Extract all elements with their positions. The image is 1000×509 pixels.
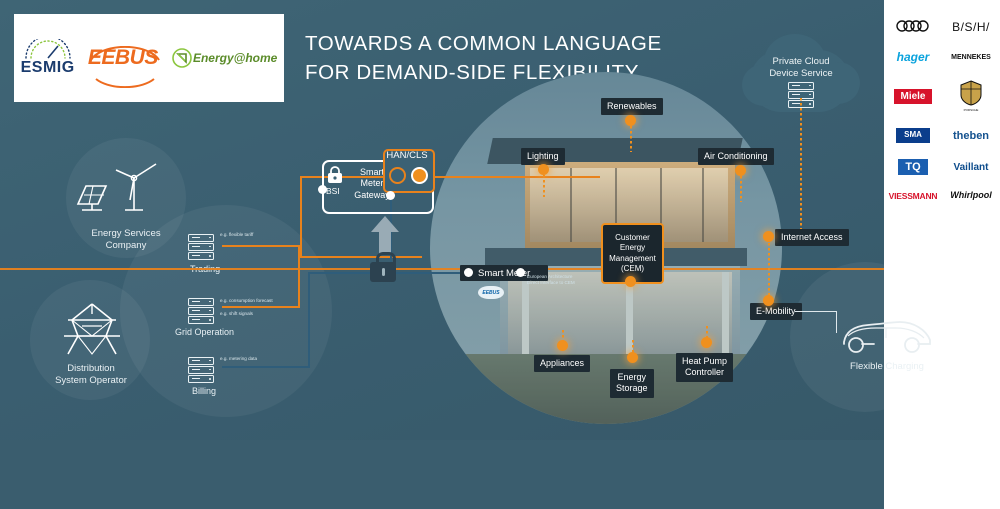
device-label-heat-pump-controller: Heat Pump Controller	[676, 353, 733, 382]
title-line-1: TOWARDS A COMMON LANGUAGE	[305, 30, 662, 59]
renewables-node	[625, 115, 636, 126]
smart-meter-node-left	[464, 268, 473, 277]
energy-services-company-label: Energy Services Company	[51, 228, 201, 252]
orange-main-bus	[0, 268, 884, 270]
appliances-connector	[562, 330, 564, 342]
esmig-wordmark: ESMIG	[21, 59, 75, 77]
blue-line-v	[308, 272, 310, 368]
sponsor-tq: TQ	[898, 159, 927, 175]
secure-upload-arrow-icon	[370, 216, 400, 254]
grid-operation-server-icon	[188, 298, 214, 320]
eebus-wordmark: EEBUS	[88, 46, 158, 70]
billing-line-h	[222, 366, 310, 368]
emobility-to-car-line	[795, 311, 837, 312]
renewables-connector	[630, 126, 632, 152]
air-conditioning-node	[735, 165, 746, 176]
renewables-icon	[72, 160, 182, 216]
grid-operation-note-1: e.g. consumption forecast	[220, 298, 273, 303]
smart-meter-node-right	[516, 268, 525, 277]
device-label-e-mobility: E-Mobility	[750, 303, 802, 320]
eebus-badge: EEBUS	[478, 286, 504, 299]
esmig-arc-icon	[21, 39, 75, 59]
device-label-appliances: Appliances	[534, 355, 590, 372]
air-conditioning-connector	[740, 176, 742, 202]
audi-rings-icon	[895, 20, 931, 32]
porsche-wordmark: PORSCHE	[960, 109, 982, 112]
orange-bus-to-gateway	[298, 256, 422, 258]
electric-car-icon	[838, 312, 934, 360]
sponsor-porsche: PORSCHE	[960, 80, 982, 112]
internet-to-emobility-connector	[768, 243, 770, 301]
cloud-to-internet-line	[800, 98, 802, 233]
distribution-system-operator-label: Distribution System Operator	[16, 363, 166, 387]
heat-pump-node	[701, 337, 712, 348]
sponsor-whirlpool: Whirlpool	[950, 191, 992, 201]
device-label-renewables: Renewables	[601, 98, 663, 115]
private-cloud-label: Private Cloud Device Service	[742, 56, 860, 81]
porsche-crest-icon	[960, 80, 982, 106]
sponsor-logo-grid: B/S/H/ hager MENNEKES Miele PORSCHE SMA …	[884, 20, 1000, 201]
cls-port-right[interactable]	[411, 167, 428, 184]
esmig-logo: ESMIG	[21, 39, 75, 77]
cem-box[interactable]: Customer Energy Management (CEM)	[601, 223, 664, 284]
trading-note: e.g. flexible tariff	[220, 232, 253, 237]
lock-keyhole	[382, 268, 385, 276]
internet-access-node	[763, 231, 774, 242]
energy-at-home-leaf-icon	[171, 47, 193, 69]
sponsor-sma: SMA	[896, 128, 930, 143]
sponsor-bsh: B/S/H/	[952, 21, 990, 34]
billing-server-icon	[188, 357, 214, 379]
energy-storage-connector	[632, 340, 634, 353]
infographic-canvas: ESMIG EEBUS Energy@home TOWARDS A COMMON…	[0, 0, 1000, 509]
flexible-charging-label: Flexible Charging	[812, 361, 962, 373]
han-cls-label: HAN/CLS	[383, 150, 431, 161]
trading-server-icon	[188, 234, 214, 256]
sponsor-vaillant: Vaillant	[953, 162, 988, 173]
trading-line-h	[222, 245, 300, 247]
gateway-node-bottom	[386, 191, 395, 200]
sponsor-theben: theben	[953, 130, 989, 142]
billing-note: e.g. metering data	[220, 356, 257, 361]
sponsor-hager: hager	[897, 51, 930, 64]
energy-storage-node	[627, 352, 638, 363]
han-port-left[interactable]	[389, 167, 406, 184]
device-label-internet-access: Internet Access	[775, 229, 849, 246]
orange-line-to-cem	[420, 176, 600, 178]
lighting-node	[538, 164, 549, 175]
energy-at-home-wordmark: Energy@home	[193, 51, 277, 65]
sponsor-mennekes: MENNEKES	[951, 54, 991, 62]
bsi-label: BSI	[326, 186, 340, 196]
security-lock-icon	[370, 252, 396, 282]
bsi-lock-icon	[327, 166, 343, 184]
gateway-node-left	[318, 185, 327, 194]
billing-label: Billing	[192, 386, 216, 396]
heat-pump-connector	[706, 326, 708, 338]
device-label-air-conditioning: Air Conditioning	[698, 148, 774, 165]
power-pylon-icon	[56, 298, 128, 360]
grid-line-h	[222, 306, 300, 308]
sponsor-viessmann: VIESSMANN	[889, 192, 938, 201]
lighting-connector	[543, 175, 545, 197]
grid-operation-note-2: e.g. shift signals	[220, 311, 253, 316]
sponsor-miele: Miele	[894, 89, 931, 104]
partner-logo-card: ESMIG EEBUS Energy@home	[14, 14, 284, 102]
background-bottom-strip	[0, 440, 884, 509]
e-mobility-node	[763, 295, 774, 306]
grid-operation-label: Grid Operation	[175, 327, 234, 337]
cem-node	[625, 276, 636, 287]
smart-meter-note: European Architecture Direct Interface t…	[527, 274, 575, 286]
sponsor-audi	[895, 20, 931, 35]
energy-at-home-logo: Energy@home	[171, 47, 277, 69]
device-label-lighting: Lighting	[521, 148, 565, 165]
orange-line-left-v	[300, 176, 302, 258]
device-label-energy-storage: Energy Storage	[610, 369, 654, 398]
eebus-logo: EEBUS	[88, 46, 158, 70]
